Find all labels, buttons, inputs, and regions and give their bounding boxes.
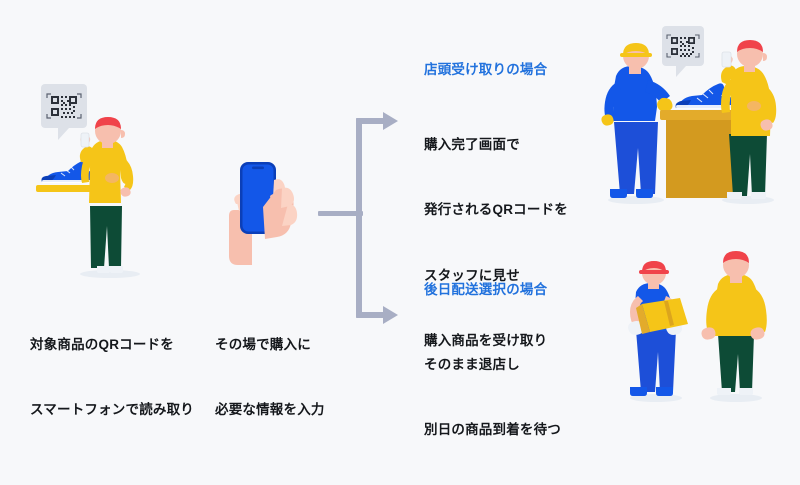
bracket-split-arrow-icon bbox=[318, 104, 404, 332]
step-scan-caption-line-1: 対象商品のQRコードを bbox=[30, 334, 215, 356]
step-scan-caption-line-2: スマートフォンで読み取り bbox=[30, 399, 215, 421]
branching-arrow-connector bbox=[318, 104, 404, 332]
infographic-canvas: 対象商品のQRコードを スマートフォンで読み取り bbox=[0, 0, 800, 420]
illustration-delivery-person-with-box bbox=[618, 248, 793, 403]
qr-speech-bubble-icon bbox=[41, 84, 87, 140]
person-customer bbox=[702, 251, 767, 395]
ground-shadow bbox=[80, 270, 140, 278]
branch-store-pickup-line-1: 購入完了画面で bbox=[424, 134, 609, 156]
branch-later-delivery-line-2: 別日の商品到着を待つ bbox=[424, 419, 609, 441]
step-input-caption-line-2: 必要な情報を入力 bbox=[215, 399, 375, 421]
branch-store-pickup-line-2: 発行されるQRコードを bbox=[424, 199, 609, 221]
illustration-store-counter-staff-customer bbox=[596, 14, 796, 204]
step-scan-caption: 対象商品のQRコードを スマートフォンで読み取り bbox=[30, 290, 215, 465]
step-input-caption-line-1: その場で購入に bbox=[215, 334, 375, 356]
illustration-hands-holding-smartphone bbox=[214, 152, 309, 267]
branch-later-delivery-heading: 後日配送選択の場合 bbox=[424, 280, 547, 300]
qr-speech-bubble-icon bbox=[662, 26, 704, 77]
illustration-person-scanning-shoe-qr bbox=[28, 78, 153, 278]
branch-later-delivery-body: そのまま退店し 別日の商品到着を待つ bbox=[424, 310, 609, 485]
branch-store-pickup-heading: 店頭受け取りの場合 bbox=[424, 60, 547, 80]
person-staff bbox=[601, 43, 672, 198]
branch-later-delivery-line-1: そのまま退店し bbox=[424, 354, 609, 376]
person-customer bbox=[80, 117, 133, 273]
